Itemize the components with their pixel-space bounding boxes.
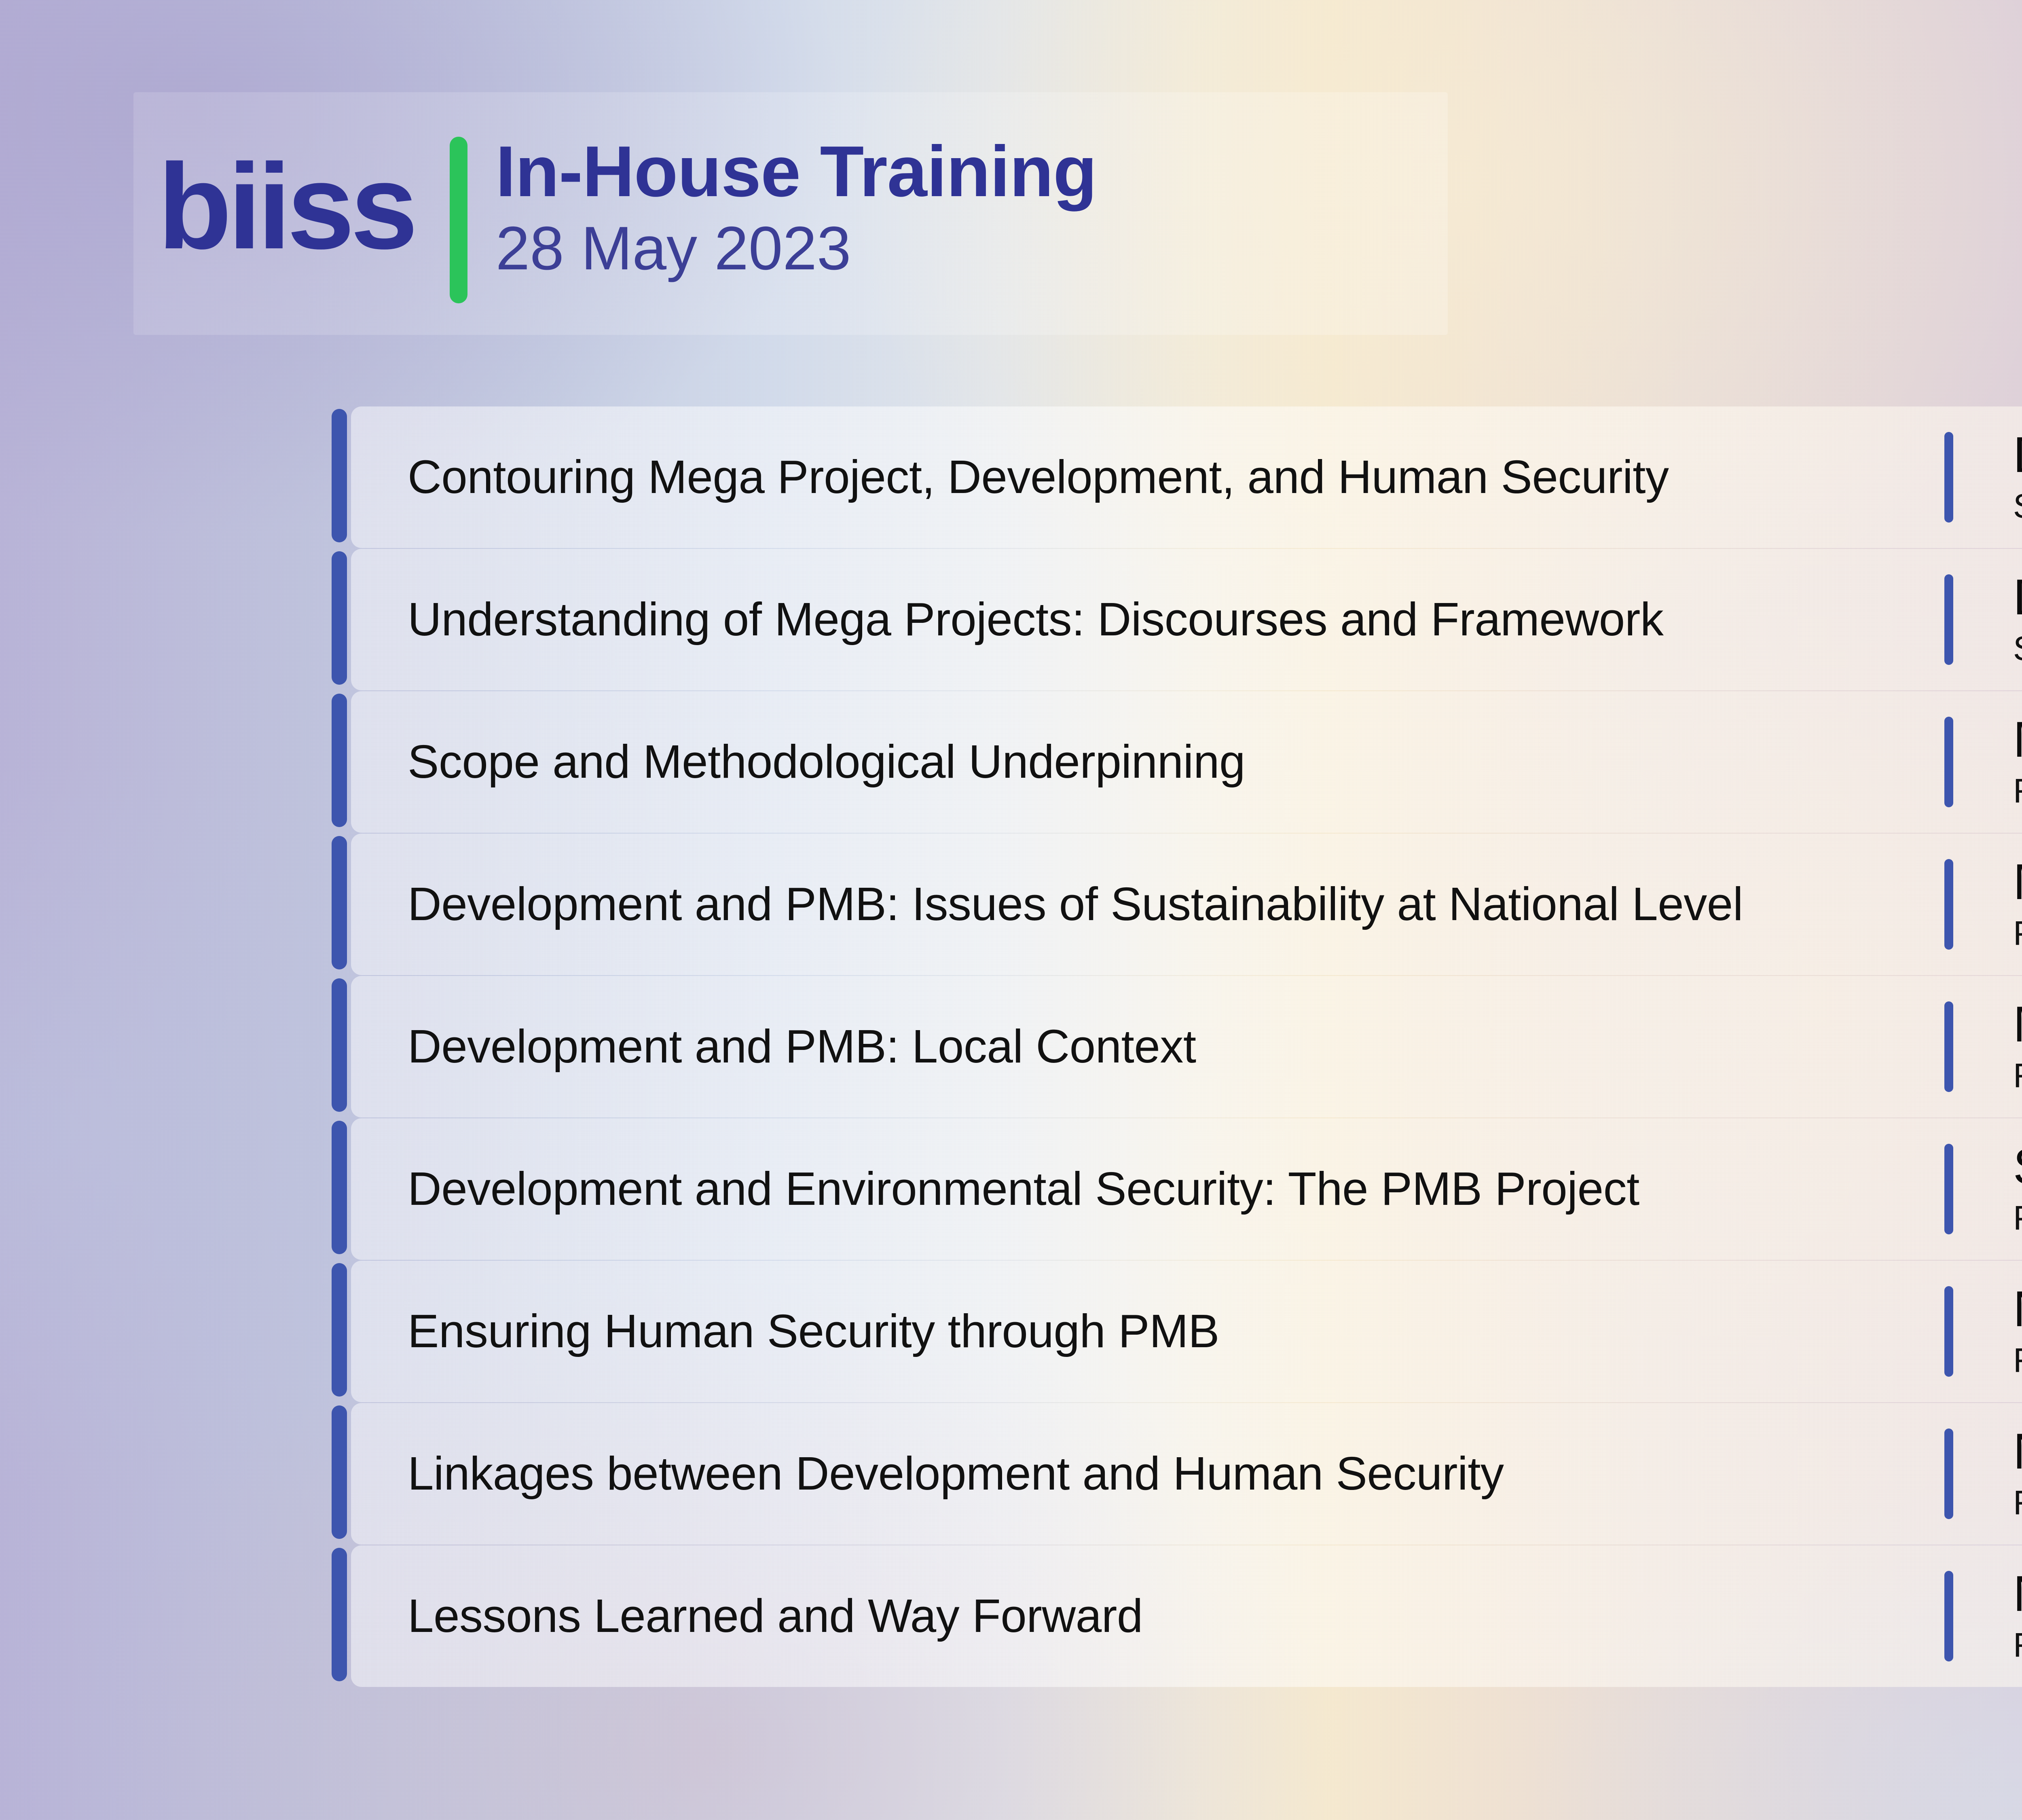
speaker-block: Md Tamzidul Islam Planner, Board Member,… [1953, 856, 2022, 952]
speaker-name: Md Tamzidul Islam [2013, 856, 2022, 908]
green-divider-rule [450, 137, 467, 303]
speaker-role: Research Officer [2013, 772, 2022, 810]
session-topic: Linkages between Development and Human S… [351, 1447, 1944, 1500]
column-divider-icon [1944, 574, 1953, 665]
column-divider-icon [1944, 1144, 1953, 1234]
session-topic: Ensuring Human Security through PMB [351, 1304, 1944, 1358]
schedule-row[interactable]: Scope and Methodological Underpinning Md… [332, 691, 2022, 833]
session-topic: Contouring Mega Project, Development, an… [351, 450, 1944, 504]
event-date: 28 May 2023 [496, 213, 1097, 284]
speaker-block: Dr. Razia Sultana Senior Research Fellow [1953, 429, 2022, 525]
speaker-role: Planner, Research Assistant, BIP [2013, 1199, 2022, 1237]
session-topic: Scope and Methodological Underpinning [351, 735, 1944, 789]
schedule-list: Contouring Mega Project, Development, an… [332, 406, 2022, 1688]
speaker-name: Dr. Razia Sultana [2013, 429, 2022, 481]
schedule-row[interactable]: Contouring Mega Project, Development, an… [332, 406, 2022, 548]
schedule-row[interactable]: Development and PMB: Local Context Md. R… [332, 976, 2022, 1117]
schedule-row[interactable]: Lessons Learned and Way Forward Nahian R… [332, 1545, 2022, 1687]
header-text-block: In-House Training 28 May 2023 [496, 133, 1097, 284]
speaker-name: Dr. Razia Sultana [2013, 571, 2022, 624]
speaker-block: Dr. Razia Sultana Senior Research Fellow [1953, 571, 2022, 667]
column-divider-icon [1944, 859, 1953, 950]
schedule-row[interactable]: Development and Environmental Security: … [332, 1118, 2022, 1260]
column-divider-icon [1944, 1571, 1953, 1661]
header: biiss In-House Training 28 May 2023 [158, 121, 1097, 303]
schedule-row[interactable]: Development and PMB: Issues of Sustainab… [332, 834, 2022, 975]
speaker-role: Senior Research Fellow [2013, 629, 2022, 667]
session-topic: Development and PMB: Local Context [351, 1020, 1944, 1073]
speaker-block: Nahiyan Shajid Khan Research Officer [1953, 1283, 2022, 1379]
schedule-row[interactable]: Ensuring Human Security through PMB Nahi… [332, 1261, 2022, 1402]
speaker-name: Md. Rafid Abrar Miah [2013, 714, 2022, 766]
column-divider-icon [1944, 432, 1953, 523]
session-topic: Lessons Learned and Way Forward [351, 1589, 1944, 1643]
page-title: In-House Training [496, 133, 1097, 210]
speaker-role: Senior Research Fellow [2013, 487, 2022, 525]
column-divider-icon [1944, 1428, 1953, 1519]
speaker-role: Research Officer [2013, 1626, 2022, 1664]
speaker-name: Nahiyan Shajid Khan [2013, 1283, 2022, 1335]
speaker-block: Md. Rafid Abrar Miah Research Officer [1953, 714, 2022, 810]
speaker-role: Research Officer [2013, 1484, 2022, 1522]
speaker-name: Nahian Reza Sabriet [2013, 1568, 2022, 1620]
speaker-role: Research Officer [2013, 1341, 2022, 1379]
speaker-role: Research Officer [2013, 1056, 2022, 1094]
column-divider-icon [1944, 1001, 1953, 1092]
speaker-name: Sumaiya Kashem [2013, 1141, 2022, 1193]
column-divider-icon [1944, 1286, 1953, 1377]
column-divider-icon [1944, 717, 1953, 807]
speaker-name: Nahian Reza Sabriet [2013, 1426, 2022, 1478]
schedule-row[interactable]: Understanding of Mega Projects: Discours… [332, 549, 2022, 690]
speaker-role: Planner, Board Member, Academic Affairs [2013, 914, 2022, 952]
speaker-block: Nahian Reza Sabriet Research Officer [1953, 1426, 2022, 1522]
schedule-row[interactable]: Linkages between Development and Human S… [332, 1403, 2022, 1545]
session-topic: Development and Environmental Security: … [351, 1162, 1944, 1216]
speaker-block: Nahian Reza Sabriet Research Officer [1953, 1568, 2022, 1664]
speaker-block: Md. Rafid Abrar Miah Research Officer [1953, 999, 2022, 1094]
speaker-name: Md. Rafid Abrar Miah [2013, 999, 2022, 1051]
session-topic: Development and PMB: Issues of Sustainab… [351, 877, 1944, 931]
speaker-block: Sumaiya Kashem Planner, Research Assista… [1953, 1141, 2022, 1237]
biiss-wordmark: biiss [158, 150, 414, 262]
session-topic: Understanding of Mega Projects: Discours… [351, 593, 1944, 646]
poster-canvas: biiss In-House Training 28 May 2023 [0, 0, 2022, 1820]
